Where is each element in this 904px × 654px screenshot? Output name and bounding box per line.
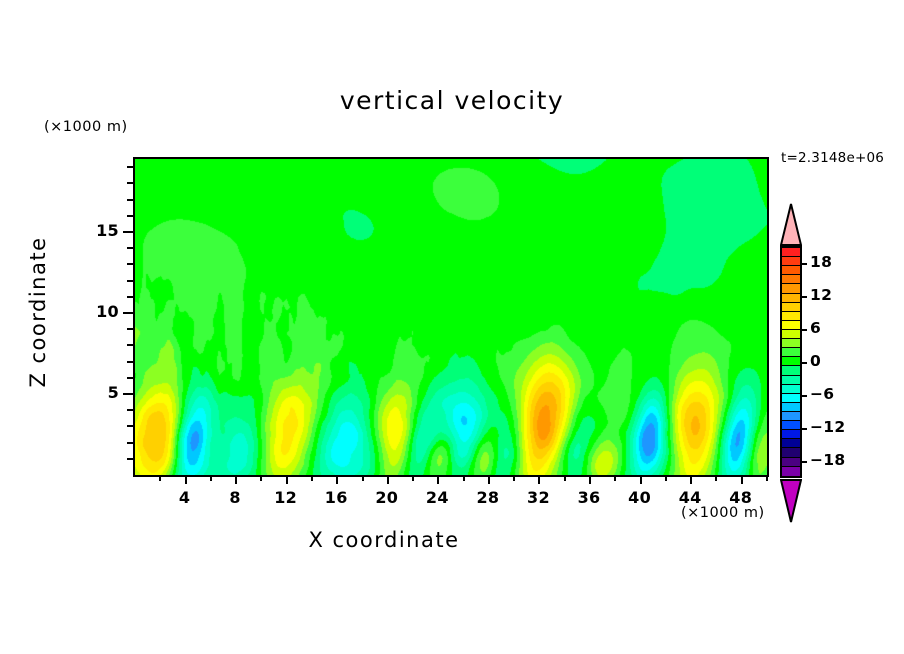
colorbar-band	[782, 412, 800, 421]
x-tick-mark	[159, 475, 161, 481]
colorbar-band	[782, 439, 800, 448]
x-tick-mark	[614, 475, 616, 481]
colorbar-band	[782, 348, 800, 357]
y-tick-mark	[123, 393, 133, 395]
x-tick-mark	[210, 475, 212, 481]
colorbar: 181260−6−12−18	[778, 203, 804, 523]
colorbar-tick-mark	[802, 461, 807, 463]
colorbar-band	[782, 266, 800, 275]
x-tick-label: 40	[620, 488, 660, 507]
colorbar-tick-label: 12	[810, 286, 832, 304]
y-tick-mark	[127, 215, 133, 217]
x-tick-label: 20	[367, 488, 407, 507]
x-tick-mark	[463, 475, 465, 481]
colorbar-band	[782, 303, 800, 312]
x-axis-title: X coordinate	[0, 528, 768, 552]
x-tick-mark	[715, 475, 717, 481]
colorbar-band	[782, 448, 800, 457]
y-tick-mark	[127, 361, 133, 363]
colorbar-tick-mark	[802, 362, 807, 364]
colorbar-tick-label: −18	[810, 451, 845, 469]
x-tick-mark	[387, 475, 389, 484]
colorbar-tick-label: 18	[810, 253, 832, 271]
x-tick-label: 4	[165, 488, 205, 507]
y-tick-mark	[127, 377, 133, 379]
x-tick-mark	[412, 475, 414, 481]
y-tick-mark	[127, 458, 133, 460]
y-tick-label: 5	[79, 383, 119, 402]
colorbar-band	[782, 385, 800, 394]
colorbar-tick-mark	[802, 428, 807, 430]
x-tick-label: 48	[721, 488, 761, 507]
x-tick-label: 12	[266, 488, 306, 507]
colorbar-band	[782, 421, 800, 430]
y-tick-label: 10	[79, 302, 119, 321]
colorbar-band	[782, 321, 800, 330]
colorbar-under-arrow-icon	[780, 478, 802, 523]
y-tick-mark	[127, 425, 133, 427]
y-tick-mark	[127, 247, 133, 249]
colorbar-bands	[780, 246, 802, 478]
y-tick-label: 15	[79, 221, 119, 240]
x-tick-mark	[665, 475, 667, 481]
x-tick-mark	[538, 475, 540, 484]
x-tick-mark	[286, 475, 288, 484]
x-tick-mark	[362, 475, 364, 481]
x-tick-label: 36	[569, 488, 609, 507]
colorbar-band	[782, 330, 800, 339]
y-axis-title: Z coordinate	[26, 212, 50, 412]
x-tick-mark	[235, 475, 237, 484]
colorbar-band	[782, 394, 800, 403]
x-tick-mark	[437, 475, 439, 484]
y-tick-mark	[123, 312, 133, 314]
colorbar-band	[782, 403, 800, 412]
colorbar-band	[782, 312, 800, 321]
colorbar-band	[782, 257, 800, 266]
colorbar-tick-mark	[802, 395, 807, 397]
x-tick-mark	[741, 475, 743, 484]
time-annotation: t=2.3148e+06	[781, 150, 884, 166]
x-tick-mark	[311, 475, 313, 481]
colorbar-band	[782, 458, 800, 467]
colorbar-over-arrow-icon	[780, 203, 802, 246]
x-tick-label: 28	[468, 488, 508, 507]
colorbar-tick-mark	[802, 329, 807, 331]
x-tick-label: 8	[215, 488, 255, 507]
colorbar-tick-label: −12	[810, 418, 845, 436]
colorbar-band	[782, 248, 800, 257]
x-tick-label: 44	[670, 488, 710, 507]
x-tick-mark	[640, 475, 642, 484]
colorbar-tick-mark	[802, 296, 807, 298]
y-tick-mark	[127, 166, 133, 168]
y-tick-mark	[123, 231, 133, 233]
x-tick-mark	[513, 475, 515, 481]
colorbar-tick-label: 0	[810, 352, 821, 370]
colorbar-band	[782, 430, 800, 439]
x-tick-label: 24	[417, 488, 457, 507]
x-tick-mark	[589, 475, 591, 484]
x-tick-mark	[564, 475, 566, 481]
colorbar-band	[782, 467, 800, 476]
vertical-velocity-heatmap	[135, 159, 767, 475]
y-tick-mark	[127, 182, 133, 184]
y-axis-unit-label: (×1000 m)	[44, 119, 128, 135]
x-tick-mark	[260, 475, 262, 481]
y-tick-mark	[127, 442, 133, 444]
x-tick-mark	[336, 475, 338, 484]
colorbar-band	[782, 366, 800, 375]
y-tick-mark	[127, 199, 133, 201]
x-tick-mark	[690, 475, 692, 484]
x-tick-mark	[766, 475, 768, 481]
chart-title: vertical velocity	[0, 86, 904, 115]
colorbar-band	[782, 275, 800, 284]
y-tick-mark	[127, 328, 133, 330]
plot-area	[133, 157, 769, 477]
y-tick-mark	[127, 344, 133, 346]
y-tick-mark	[127, 409, 133, 411]
x-tick-label: 32	[518, 488, 558, 507]
colorbar-band	[782, 284, 800, 293]
x-tick-mark	[185, 475, 187, 484]
y-tick-mark	[127, 263, 133, 265]
y-tick-mark	[127, 280, 133, 282]
x-axis-unit-label: (×1000 m)	[681, 505, 765, 521]
colorbar-band	[782, 376, 800, 385]
x-tick-label: 16	[316, 488, 356, 507]
colorbar-tick-mark	[802, 263, 807, 265]
colorbar-band	[782, 357, 800, 366]
colorbar-tick-label: 6	[810, 319, 821, 337]
y-tick-mark	[127, 296, 133, 298]
colorbar-band	[782, 294, 800, 303]
x-tick-mark	[488, 475, 490, 484]
colorbar-tick-label: −6	[810, 385, 834, 403]
colorbar-band	[782, 339, 800, 348]
